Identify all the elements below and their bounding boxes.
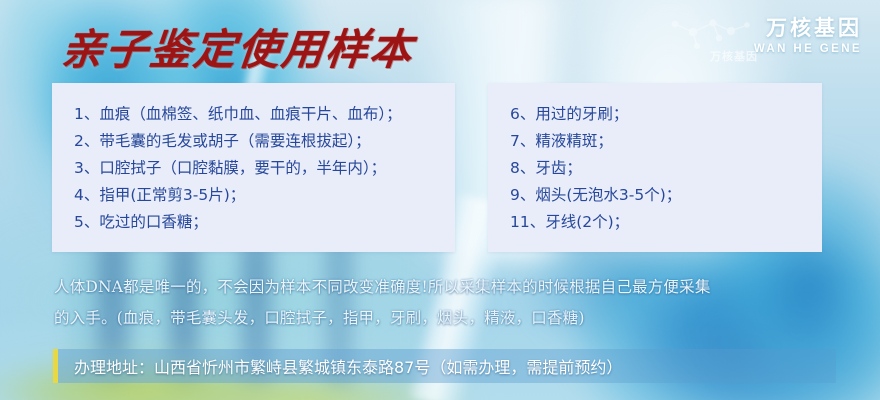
list-item: 3、口腔拭子（口腔黏膜，要干的，半年内）；	[74, 155, 455, 182]
list-item: 6、用过的牙刷；	[510, 101, 822, 128]
sample-list-panel-left: 1、血痕（血棉签、纸巾血、血痕干片、血布）； 2、带毛囊的毛发或胡子（需要连根拔…	[52, 83, 455, 252]
sample-list-left: 1、血痕（血棉签、纸巾血、血痕干片、血布）； 2、带毛囊的毛发或胡子（需要连根拔…	[52, 83, 455, 236]
list-item: 8、牙齿；	[510, 155, 822, 182]
list-item: 9、烟头(无泡水3-5个)；	[510, 182, 822, 209]
sample-list-right: 6、用过的牙刷； 7、精液精斑； 8、牙齿； 9、烟头(无泡水3-5个)； 11…	[488, 83, 822, 236]
list-item: 1、血痕（血棉签、纸巾血、血痕干片、血布）；	[74, 101, 455, 128]
poster-root: 亲子鉴定使用样本 万核基因 万核基因 WA	[0, 0, 880, 400]
address-bar: 办理地址：山西省忻州市繁峙县繁城镇东泰路87号（如需办理，需提前预约）	[53, 349, 836, 383]
note-line-2: 的入手。(血痕，带毛囊头发，口腔拭子，指甲，牙刷，烟头，精液，口香糖)	[54, 303, 844, 334]
list-item: 11、牙线(2个)；	[510, 209, 822, 236]
note-line-1: 人体DNA都是唯一的，不会因为样本不同改变准确度!所以采集样本的时候根据自己最方…	[54, 272, 844, 303]
address-text: 办理地址：山西省忻州市繁峙县繁城镇东泰路87号（如需办理，需提前预约）	[58, 354, 622, 378]
brand-name-en: WAN HE GENE	[754, 44, 862, 56]
list-item: 4、指甲(正常剪3-5片)；	[74, 182, 455, 209]
list-item: 5、吃过的口香糖；	[74, 209, 455, 236]
brand-logo: 万核基因 WAN HE GENE	[754, 18, 862, 56]
brand-name-cn: 万核基因	[754, 18, 862, 39]
list-item: 7、精液精斑；	[510, 128, 822, 155]
page-title: 亲子鉴定使用样本	[59, 16, 417, 77]
logo-watermark-text: 万核基因	[710, 48, 758, 64]
list-item: 2、带毛囊的毛发或胡子（需要连根拔起）；	[74, 128, 455, 155]
explanatory-note: 人体DNA都是唯一的，不会因为样本不同改变准确度!所以采集样本的时候根据自己最方…	[54, 272, 844, 334]
sample-list-panel-right: 6、用过的牙刷； 7、精液精斑； 8、牙齿； 9、烟头(无泡水3-5个)； 11…	[488, 83, 822, 252]
